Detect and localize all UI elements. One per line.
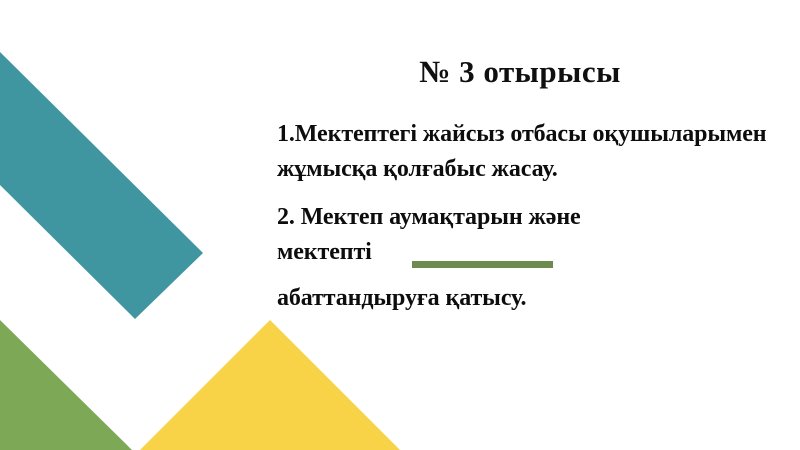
slide-content: № 3 отырысы 1.Мектептегі жайсыз отбасы о…: [0, 0, 800, 450]
presentation-slide: № 3 отырысы 1.Мектептегі жайсыз отбасы о…: [0, 0, 800, 450]
slide-title: № 3 отырысы: [270, 54, 770, 90]
body-paragraph-item-2-line-3: абаттандыруға қатысу.: [277, 281, 789, 316]
body-paragraph-item-1: 1.Мектептегі жайсыз отбасы оқушыларымен …: [277, 117, 789, 187]
slide-body: 1.Мектептегі жайсыз отбасы оқушыларымен …: [277, 117, 789, 316]
green-underline-bar: [412, 261, 553, 268]
body-paragraph-item-2-line-1: 2. Мектеп аумақтарын және: [277, 200, 789, 235]
